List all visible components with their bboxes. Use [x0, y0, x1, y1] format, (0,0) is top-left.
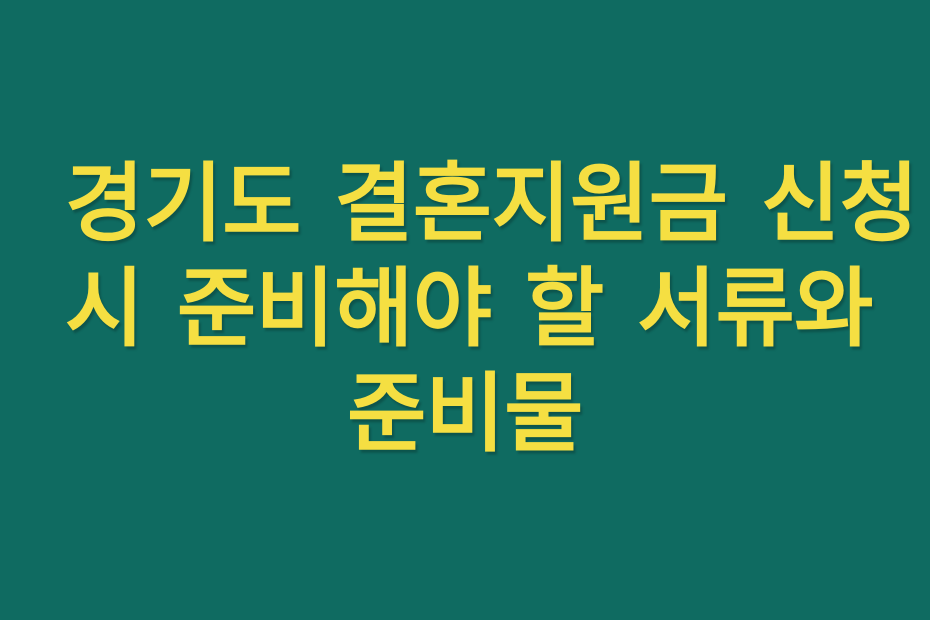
- page-title: 경기도 결혼지원금 신청 시 준비해야 할 서류와 준비물: [65, 152, 865, 467]
- title-line-1: 경기도 결혼지원금 신청: [65, 152, 865, 257]
- title-line-3: 준비물: [65, 362, 865, 467]
- title-line-2: 시 준비해야 할 서류와: [65, 257, 865, 362]
- title-card: 경기도 결혼지원금 신청 시 준비해야 할 서류와 준비물: [0, 0, 930, 620]
